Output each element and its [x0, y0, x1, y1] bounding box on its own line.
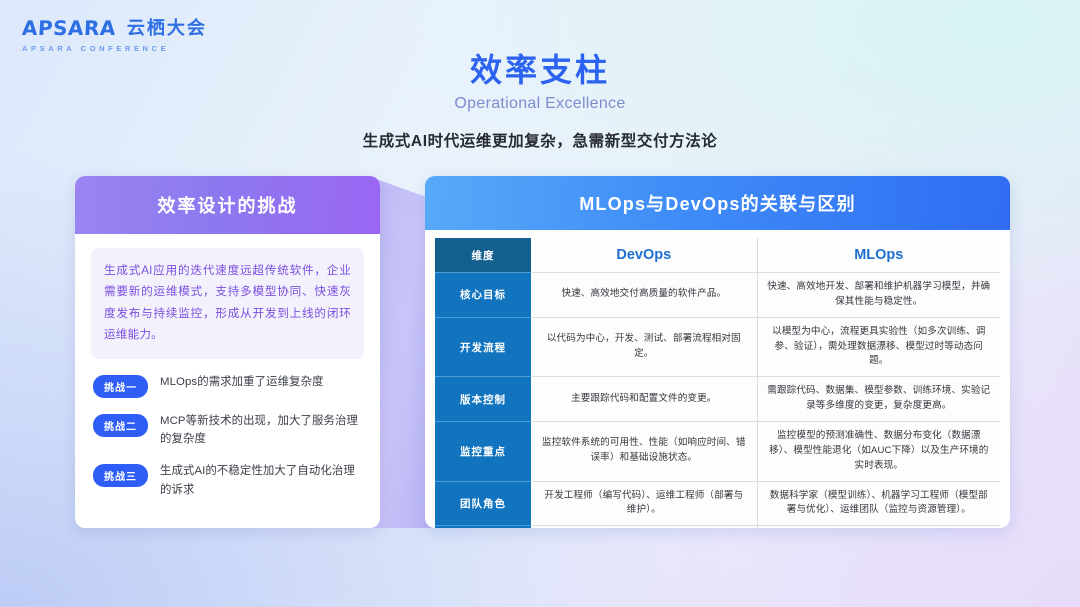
table-row: 挑战 复杂性较低，流程成熟，工具链完善。 复杂性高，需解决数据质量、模型可解释性… — [435, 526, 1000, 528]
column-header-dimension: 维度 — [435, 238, 531, 273]
table-row: 团队角色 开发工程师（编写代码）、运维工程师（部署与维护）。 数据科学家（模型训… — [435, 481, 1000, 526]
cell-devops: 主要跟踪代码和配置文件的变更。 — [531, 377, 757, 422]
table-row: 版本控制 主要跟踪代码和配置文件的变更。 需跟踪代码、数据集、模型参数、训练环境… — [435, 377, 1000, 422]
row-dimension: 监控重点 — [435, 422, 531, 482]
challenge-text: 生成式AI的不稳定性加大了自动化治理的诉求 — [160, 462, 364, 499]
table-row: 监控重点 监控软件系统的可用性、性能（如响应时间、错误率）和基础设施状态。 监控… — [435, 422, 1000, 482]
challenge-badge: 挑战三 — [93, 464, 148, 487]
comparison-card: MLOps与DevOps的关联与区别 维度 DevOps MLOps 核心目标 — [425, 176, 1010, 528]
column-header-devops: DevOps — [531, 238, 757, 273]
table-header-row: 维度 DevOps MLOps — [435, 238, 1000, 273]
page-subtitle: Operational Excellence — [0, 95, 1080, 113]
cell-mlops: 复杂性高，需解决数据质量、模型可解释性、计算资源消耗大等问题，且工具链仍在快速发… — [757, 526, 1000, 528]
challenges-card: 效率设计的挑战 生成式AI应用的迭代速度远超传统软件，企业需要新的运维模式，支持… — [75, 176, 380, 528]
challenges-card-body: 生成式AI应用的迭代速度远超传统软件，企业需要新的运维模式，支持多模型协同、快速… — [75, 234, 380, 499]
challenge-text: MCP等新技术的出现，加大了服务治理的复杂度 — [160, 412, 364, 449]
cell-mlops: 以模型为中心，流程更具实验性（如多次训练、调参、验证），需处理数据漂移、模型过时… — [757, 317, 1000, 377]
list-item: 挑战三 生成式AI的不稳定性加大了自动化治理的诉求 — [91, 462, 364, 499]
cell-mlops: 快速、高效地开发、部署和维护机器学习模型，并确保其性能与稳定性。 — [757, 273, 1000, 318]
cell-devops: 以代码为中心，开发、测试、部署流程相对固定。 — [531, 317, 757, 377]
cell-mlops: 需跟踪代码、数据集、模型参数、训练环境、实验记录等多维度的变更，复杂度更高。 — [757, 377, 1000, 422]
list-item: 挑战二 MCP等新技术的出现，加大了服务治理的复杂度 — [91, 412, 364, 449]
comparison-card-title: MLOps与DevOps的关联与区别 — [579, 190, 856, 216]
row-dimension: 版本控制 — [435, 377, 531, 422]
challenge-badge: 挑战二 — [93, 414, 148, 437]
list-item: 挑战一 MLOps的需求加重了运维复杂度 — [91, 373, 364, 398]
cell-devops: 监控软件系统的可用性、性能（如响应时间、错误率）和基础设施状态。 — [531, 422, 757, 482]
slide-canvas: APSARA 云栖大会 APSARA CONFERENCE 效率支柱 Opera… — [0, 0, 1080, 607]
comparison-table: 维度 DevOps MLOps 核心目标 快速、高效地交付高质量的软件产品。 快… — [435, 238, 1000, 528]
title-block: 效率支柱 Operational Excellence 生成式AI时代运维更加复… — [0, 50, 1080, 151]
challenges-intro-text: 生成式AI应用的迭代速度远超传统软件，企业需要新的运维模式，支持多模型协同、快速… — [91, 248, 364, 359]
page-title: 效率支柱 — [0, 50, 1080, 90]
comparison-table-wrap: 维度 DevOps MLOps 核心目标 快速、高效地交付高质量的软件产品。 快… — [425, 230, 1010, 528]
row-dimension: 挑战 — [435, 526, 531, 528]
cell-devops: 快速、高效地交付高质量的软件产品。 — [531, 273, 757, 318]
cell-devops: 复杂性较低，流程成熟，工具链完善。 — [531, 526, 757, 528]
logo-wordmark-cn: 云栖大会 — [127, 19, 207, 37]
cell-mlops: 数据科学家（模型训练）、机器学习工程师（模型部署与优化）、运维团队（监控与资源管… — [757, 481, 1000, 526]
column-header-mlops: MLOps — [757, 238, 1000, 273]
row-dimension: 核心目标 — [435, 273, 531, 318]
row-dimension: 团队角色 — [435, 481, 531, 526]
cell-mlops: 监控模型的预测准确性、数据分布变化（数据漂移）、模型性能退化（如AUC下降）以及… — [757, 422, 1000, 482]
table-row: 核心目标 快速、高效地交付高质量的软件产品。 快速、高效地开发、部署和维护机器学… — [435, 273, 1000, 318]
challenge-text: MLOps的需求加重了运维复杂度 — [160, 373, 324, 391]
challenges-card-header: 效率设计的挑战 — [75, 176, 380, 234]
row-dimension: 开发流程 — [435, 317, 531, 377]
logo-wordmark-row: APSARA 云栖大会 — [22, 18, 282, 38]
comparison-card-header: MLOps与DevOps的关联与区别 — [425, 176, 1010, 230]
logo-wordmark: APSARA — [21, 18, 116, 38]
page-lead-text: 生成式AI时代运维更加复杂，急需新型交付方法论 — [0, 129, 1080, 151]
challenge-badge: 挑战一 — [93, 375, 148, 398]
table-row: 开发流程 以代码为中心，开发、测试、部署流程相对固定。 以模型为中心，流程更具实… — [435, 317, 1000, 377]
challenges-card-title: 效率设计的挑战 — [158, 192, 298, 218]
cell-devops: 开发工程师（编写代码）、运维工程师（部署与维护）。 — [531, 481, 757, 526]
